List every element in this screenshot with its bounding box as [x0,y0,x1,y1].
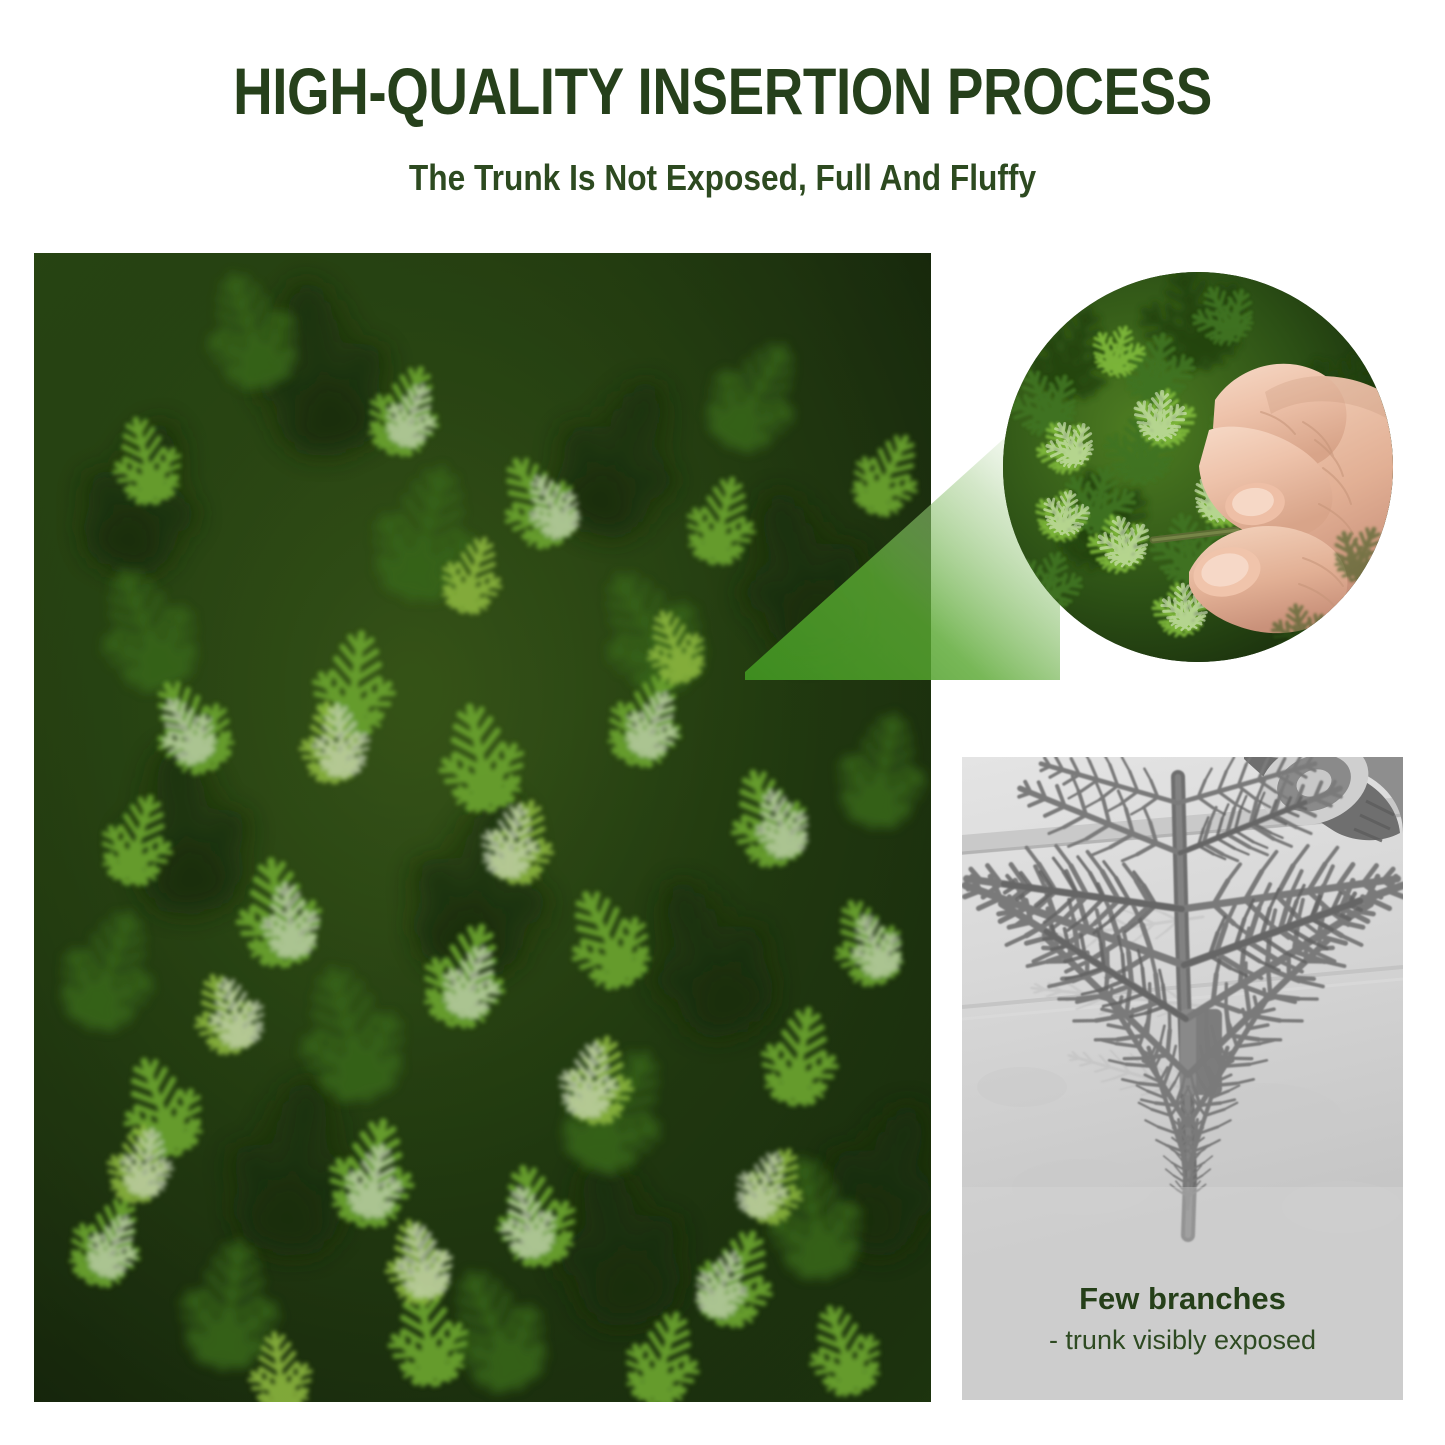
hand-pinching-branch-graphic [1003,272,1393,662]
foliage-closeup-graphic [34,253,931,1402]
hand-pinching-branch-image [1003,272,1393,662]
header: HIGH-QUALITY INSERTION PROCESS The Trunk… [0,0,1445,240]
caption-title: Few branches [962,1283,1403,1314]
sparse-tree-grayscale-graphic [962,757,1403,1259]
comparison-panel: Few branches - trunk visibly exposed [962,757,1403,1400]
foliage-closeup-image [34,253,931,1402]
page-title: HIGH-QUALITY INSERTION PROCESS [123,58,1322,124]
comparison-caption: Few branches - trunk visibly exposed [962,1259,1403,1400]
page-subtitle: The Trunk Is Not Exposed, Full And Fluff… [87,160,1359,196]
caption-subtitle: - trunk visibly exposed [962,1327,1403,1354]
hand-graphic [1188,364,1393,633]
sparse-tree-grayscale-image [962,757,1403,1259]
